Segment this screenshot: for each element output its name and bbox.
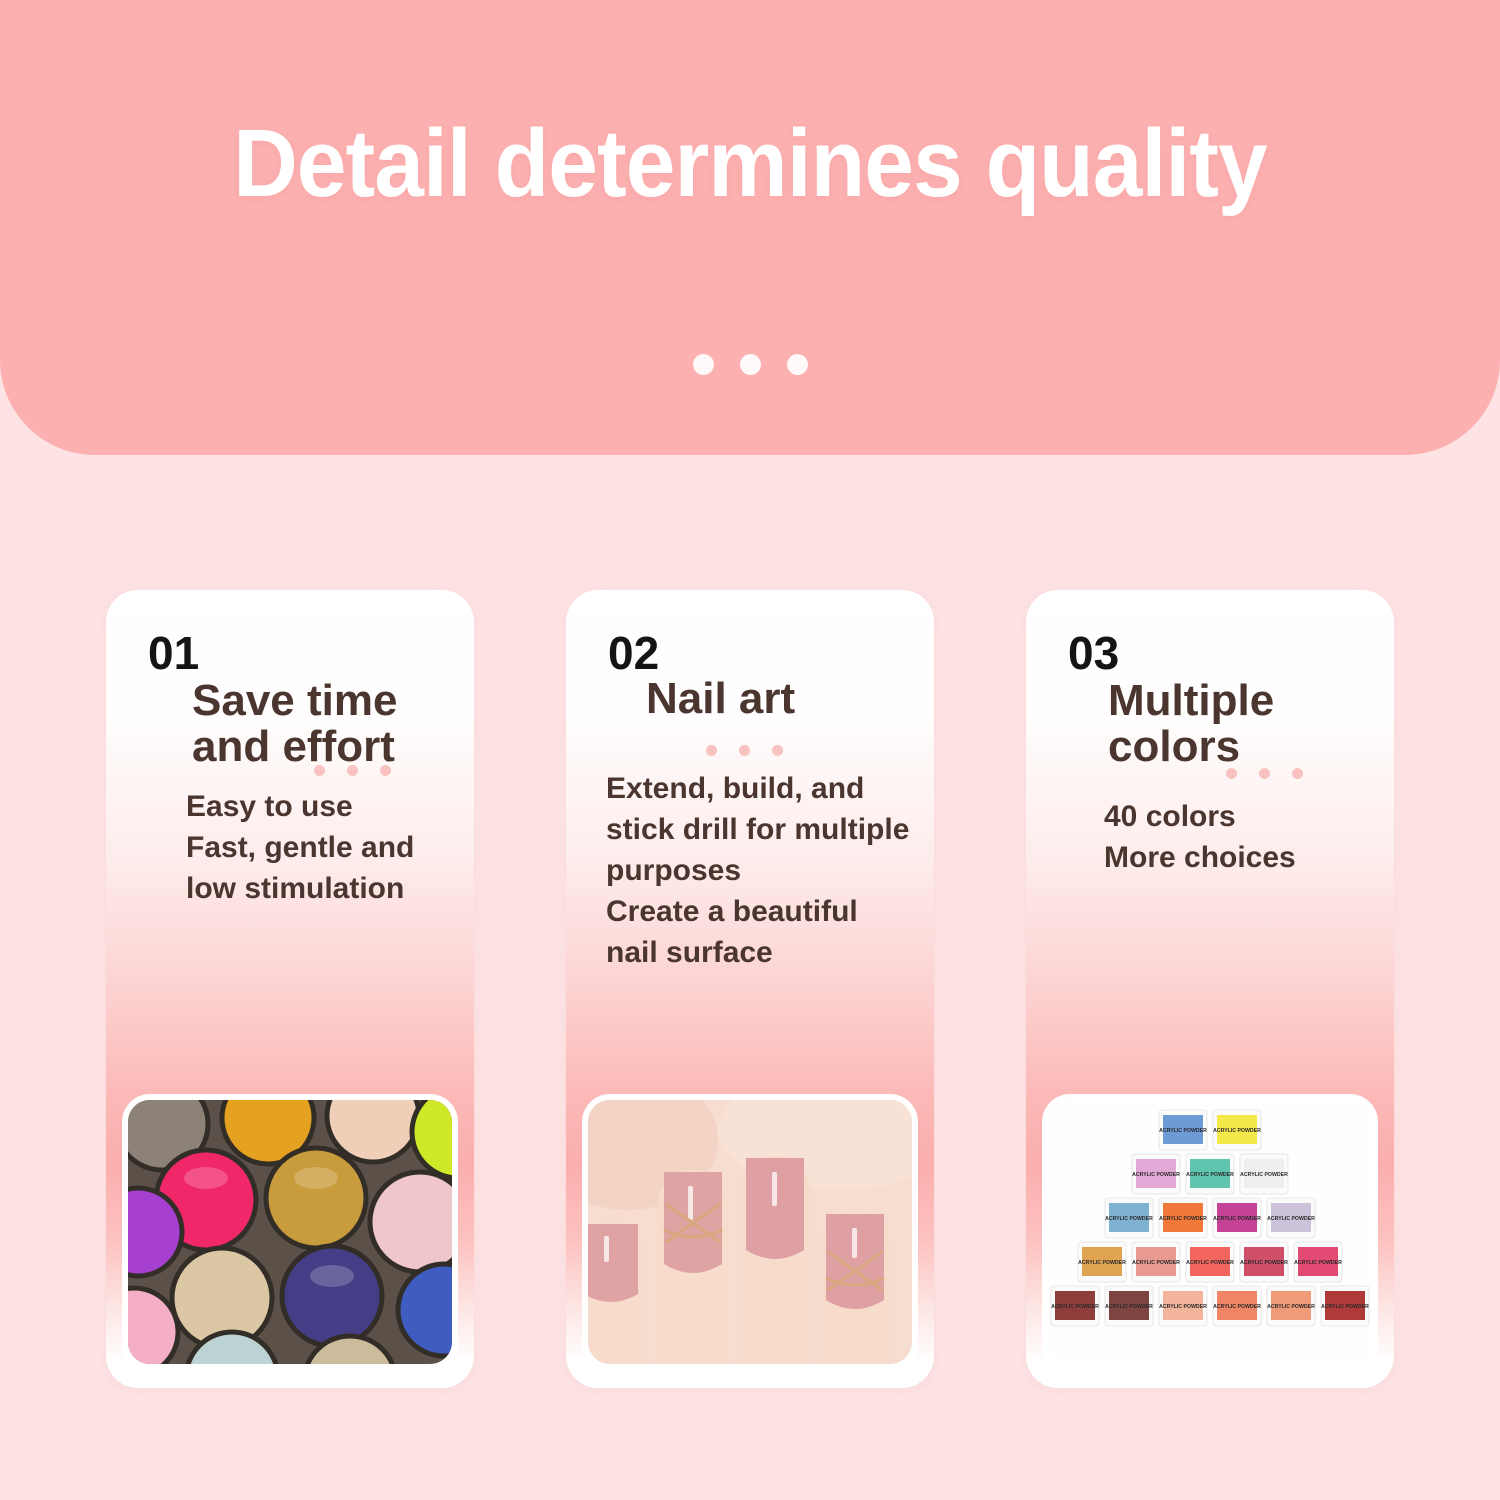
card-dot-separator [1226,768,1303,779]
svg-text:ACRYLIC POWDER: ACRYLIC POWDER [1267,1304,1315,1310]
svg-text:ACRYLIC POWDER: ACRYLIC POWDER [1132,1172,1180,1178]
card-dot-separator [314,765,391,776]
page-title: Detail determines quality [53,112,1448,216]
acrylic-powder-jar-pyramid-photo: ACRYLIC POWDERACRYLIC POWDERACRYLIC POWD… [1048,1100,1372,1364]
svg-text:ACRYLIC POWDER: ACRYLIC POWDER [1105,1216,1153,1222]
card-number: 01 [148,626,199,680]
dot-icon [380,765,391,776]
svg-text:ACRYLIC POWDER: ACRYLIC POWDER [1159,1216,1207,1222]
card-number: 03 [1068,626,1119,680]
svg-text:ACRYLIC POWDER: ACRYLIC POWDER [1186,1172,1234,1178]
dot-icon [706,745,717,756]
svg-text:ACRYLIC POWDER: ACRYLIC POWDER [1078,1260,1126,1266]
nail-hand-illustration [588,1100,912,1364]
jar-pyramid-illustration: ACRYLIC POWDERACRYLIC POWDERACRYLIC POWD… [1048,1100,1372,1364]
dot-icon [740,354,761,375]
manicured-nails-photo [588,1100,912,1364]
card-body-text: Easy to use Fast, gentle and low stimula… [186,786,414,909]
feature-card-row: 01 Save time and effort Easy to use Fast… [0,590,1500,1390]
feature-card-03: 03 Multiple colors 40 colors More choice… [1026,590,1394,1388]
dot-icon [1226,768,1237,779]
card-number: 02 [608,626,659,680]
svg-text:ACRYLIC POWDER: ACRYLIC POWDER [1213,1216,1261,1222]
powder-jars-illustration [128,1100,452,1364]
header-banner: Detail determines quality [0,0,1500,455]
svg-text:ACRYLIC POWDER: ACRYLIC POWDER [1132,1260,1180,1266]
svg-text:ACRYLIC POWDER: ACRYLIC POWDER [1159,1304,1207,1310]
svg-text:ACRYLIC POWDER: ACRYLIC POWDER [1051,1304,1099,1310]
card-body-text: Extend, build, and stick drill for multi… [606,768,909,973]
feature-card-01: 01 Save time and effort Easy to use Fast… [106,590,474,1388]
svg-text:ACRYLIC POWDER: ACRYLIC POWDER [1186,1260,1234,1266]
card-heading: Nail art [646,676,920,722]
dot-icon [1259,768,1270,779]
svg-text:ACRYLIC POWDER: ACRYLIC POWDER [1105,1304,1153,1310]
feature-card-02: 02 Nail art Extend, build, and stick dri… [566,590,934,1388]
card-dot-separator [706,745,783,756]
svg-text:ACRYLIC POWDER: ACRYLIC POWDER [1213,1128,1261,1134]
card-heading: Save time and effort [192,678,460,770]
svg-text:ACRYLIC POWDER: ACRYLIC POWDER [1240,1172,1288,1178]
svg-text:ACRYLIC POWDER: ACRYLIC POWDER [1159,1128,1207,1134]
dot-icon [772,745,783,756]
dot-icon [314,765,325,776]
header-dot-separator [0,354,1500,375]
svg-text:ACRYLIC POWDER: ACRYLIC POWDER [1294,1260,1342,1266]
svg-text:ACRYLIC POWDER: ACRYLIC POWDER [1240,1260,1288,1266]
acrylic-powder-jars-closeup-photo [128,1100,452,1364]
card-heading: Multiple colors [1108,678,1380,770]
dot-icon [787,354,808,375]
svg-text:ACRYLIC POWDER: ACRYLIC POWDER [1267,1216,1315,1222]
dot-icon [693,354,714,375]
svg-text:ACRYLIC POWDER: ACRYLIC POWDER [1213,1304,1261,1310]
svg-text:ACRYLIC POWDER: ACRYLIC POWDER [1321,1304,1369,1310]
card-body-text: 40 colors More choices [1104,796,1296,878]
dot-icon [347,765,358,776]
dot-icon [739,745,750,756]
dot-icon [1292,768,1303,779]
